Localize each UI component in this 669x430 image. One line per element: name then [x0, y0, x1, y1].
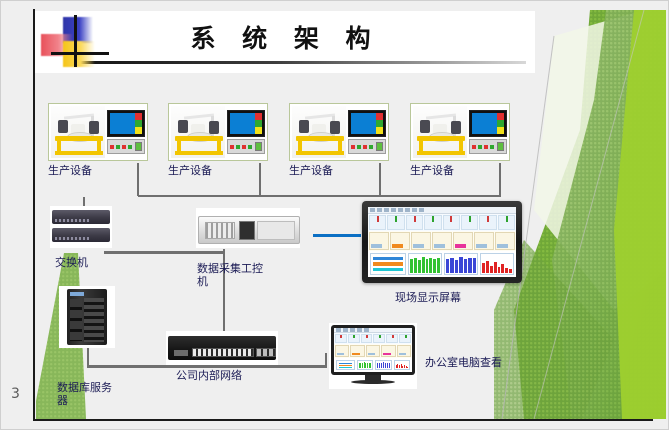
ipc-drive-bay — [239, 221, 255, 240]
dashboard-toolbar — [368, 207, 516, 214]
hmi-screen — [348, 110, 386, 137]
chart-bar — [422, 257, 425, 273]
link-ipc-to-wall-display — [313, 234, 361, 237]
rack-switch-illustration — [166, 331, 278, 365]
chart-bar — [464, 259, 467, 273]
chart-bar — [404, 365, 405, 368]
chart-bar — [429, 258, 432, 273]
chart-bar — [396, 365, 397, 369]
hmi-panel-knob[interactable] — [497, 142, 504, 151]
chart-bar — [387, 363, 388, 368]
chart-bar — [379, 363, 380, 368]
chart-bar — [397, 364, 398, 368]
chart-bar — [402, 366, 403, 368]
hmi-screen-blue-area — [110, 113, 135, 134]
chart-bar — [364, 362, 365, 368]
hmi-panel-leds — [110, 145, 132, 149]
brand-logo-icon — [41, 15, 105, 67]
dashboard-charts — [368, 251, 516, 277]
hmi-panel-knob[interactable] — [376, 142, 383, 151]
chart-bar — [360, 363, 361, 368]
hmi-control-panel[interactable] — [469, 139, 507, 154]
dashboard-view-small — [334, 328, 412, 372]
rack-switch-display — [174, 350, 188, 356]
machine-illustration — [171, 106, 225, 158]
production-equipment-card-2[interactable] — [168, 103, 268, 161]
wall-display-screen — [368, 207, 516, 277]
label-production-equipment-2: 生产设备 — [168, 164, 214, 177]
hmi-terminal[interactable] — [227, 106, 265, 158]
hmi-panel-knob[interactable] — [255, 142, 262, 151]
chart-bar — [365, 363, 366, 368]
drop-line-database-server — [87, 345, 89, 367]
hmi-screen — [227, 110, 265, 137]
monitor-screen — [334, 328, 412, 372]
chart-bar — [446, 259, 449, 273]
logo-bar-horizontal — [51, 52, 109, 55]
ipc-vent-grill — [205, 222, 235, 239]
label-network-switch: 交换机 — [55, 256, 89, 269]
chart-bar — [473, 258, 476, 273]
dashboard-station-row — [368, 214, 516, 231]
label-office-computer: 办公室电脑查看 — [425, 356, 503, 369]
rack-switch-ports — [192, 348, 254, 357]
hmi-control-panel[interactable] — [107, 139, 145, 154]
office-computer-node[interactable] — [329, 323, 417, 389]
chart-status-blocks-small — [336, 360, 355, 370]
chart-bar — [406, 366, 407, 368]
production-equipment-card-4[interactable] — [410, 103, 510, 161]
hmi-terminal[interactable] — [107, 106, 145, 158]
chart-bar — [505, 268, 508, 273]
bus-line-production — [138, 195, 501, 197]
chart-bars-red — [480, 253, 514, 275]
dashboard-status-row — [368, 231, 516, 251]
chart-bar — [369, 363, 370, 368]
database-server-node[interactable] — [59, 286, 115, 348]
chart-bar — [401, 364, 402, 368]
machine-frame-top — [55, 136, 103, 141]
link-switch-to-ipc — [104, 251, 224, 254]
title-underline — [71, 61, 526, 64]
label-database-server: 数据库服务器 — [57, 381, 121, 407]
machine-head-right — [89, 121, 99, 134]
page-title: 系 统 架 构 — [35, 19, 535, 55]
office-monitor-illustration — [329, 323, 417, 389]
drop-line-equipment-1 — [137, 163, 139, 196]
hmi-status-leds — [135, 113, 142, 134]
chart-bar — [385, 363, 386, 368]
hmi-control-panel[interactable] — [348, 139, 386, 154]
drop-line-equipment-4 — [499, 163, 501, 196]
chart-bars-green — [408, 253, 442, 275]
monitor-bezel — [331, 325, 415, 375]
hmi-screen — [107, 110, 145, 137]
company-network-node[interactable] — [166, 331, 278, 365]
monitor-base — [351, 380, 395, 384]
rack-switch-chassis — [168, 336, 276, 360]
chart-bars-blue — [444, 253, 478, 275]
chart-bar — [381, 363, 382, 368]
machine-head-left — [58, 120, 68, 133]
drop-line-equipment-3 — [379, 163, 381, 196]
chart-bar — [370, 363, 371, 368]
hmi-terminal[interactable] — [348, 106, 386, 158]
chart-bars-red-small — [394, 360, 411, 370]
rack-switch-uplink-ports — [256, 348, 276, 357]
chart-bar — [367, 363, 368, 368]
chart-bar — [482, 263, 485, 273]
wall-display-illustration — [362, 201, 522, 283]
machine-illustration — [292, 106, 346, 158]
machine-illustration — [51, 106, 105, 158]
title-bar: 系 统 架 构 — [35, 11, 535, 73]
switch-unit-bottom — [52, 228, 110, 242]
chart-bar — [359, 363, 360, 368]
hmi-terminal[interactable] — [469, 106, 507, 158]
wall-display-node[interactable] — [362, 201, 522, 283]
page-number: 3 — [11, 386, 20, 402]
hmi-panel-knob[interactable] — [135, 142, 142, 151]
chart-bar — [414, 258, 417, 273]
server-slot-column — [70, 299, 82, 341]
chart-bar — [362, 363, 363, 368]
production-equipment-card-1[interactable] — [48, 103, 148, 161]
machine-arm — [64, 113, 94, 119]
chart-bar — [490, 266, 493, 273]
label-production-equipment-1: 生产设备 — [48, 164, 94, 177]
chart-bar — [509, 269, 512, 273]
ipc-chassis — [198, 216, 300, 244]
switch-unit-top — [52, 210, 110, 224]
chart-bar — [399, 365, 400, 368]
chart-bar — [410, 259, 413, 273]
database-server-illustration — [59, 286, 115, 348]
drop-line-office-computer — [325, 353, 327, 367]
chart-bar — [494, 262, 497, 273]
chart-bar — [377, 363, 378, 368]
chart-bar — [468, 258, 471, 273]
chart-bar — [426, 259, 429, 273]
label-industrial-pc: 数据采集工控机 — [197, 262, 271, 288]
drop-line-equipment-2 — [259, 163, 261, 196]
chart-bar — [459, 257, 462, 273]
chart-bar — [450, 258, 453, 273]
chart-bars-blue-small — [375, 360, 392, 370]
machine-illustration — [413, 106, 467, 158]
chart-bar — [418, 260, 421, 273]
server-logo-badge — [70, 292, 84, 296]
production-equipment-card-3[interactable] — [289, 103, 389, 161]
label-production-equipment-3: 生产设备 — [289, 164, 335, 177]
label-wall-display: 现场显示屏幕 — [395, 291, 465, 304]
chart-bar — [407, 367, 408, 368]
chart-status-blocks — [370, 253, 406, 275]
industrial-pc-illustration — [196, 208, 300, 248]
label-production-equipment-4: 生产设备 — [410, 164, 456, 177]
hmi-control-panel[interactable] — [227, 139, 265, 154]
logo-bar-vertical — [74, 15, 77, 67]
switch-illustration — [50, 206, 112, 248]
machine-frame-bottom — [55, 151, 103, 155]
chart-bar — [501, 264, 504, 273]
dashboard-view — [368, 207, 516, 277]
server-drive-bays — [84, 298, 104, 342]
chart-bars-green-small — [357, 360, 374, 370]
industrial-pc-node[interactable] — [196, 208, 300, 248]
label-company-network: 公司内部网络 — [176, 369, 242, 382]
slide-canvas: 系 统 架 构 — [0, 0, 669, 430]
chart-bar — [498, 267, 501, 273]
ipc-front-panel — [257, 221, 295, 240]
chart-bar — [486, 261, 489, 273]
frame-border-bottom — [33, 419, 653, 421]
chart-bar — [383, 362, 384, 368]
server-chassis — [67, 289, 107, 345]
network-switch-node[interactable] — [50, 206, 112, 248]
chart-bar — [389, 363, 390, 368]
bus-line-network — [87, 365, 327, 368]
chart-bar — [455, 260, 458, 273]
hmi-screen — [469, 110, 507, 137]
chart-bar — [437, 258, 440, 273]
chart-bar — [433, 259, 436, 273]
